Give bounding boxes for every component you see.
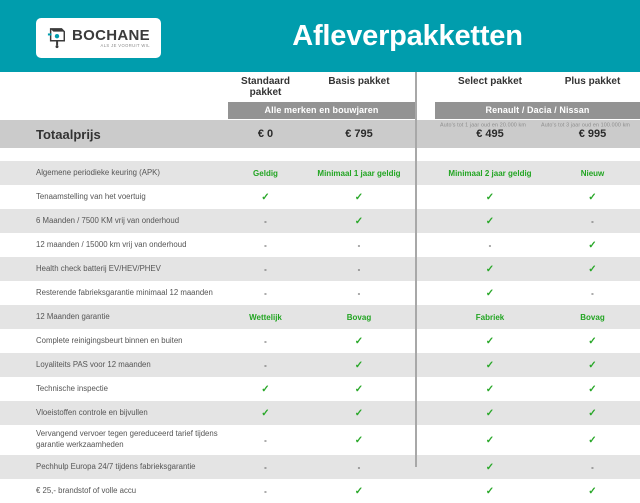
brand-bar-renault-dacia-nissan: Renault / Dacia / Nissan: [435, 102, 640, 119]
logo-wordmark: BOCHANE: [72, 28, 150, 43]
package-name-basis: Basis pakket: [303, 76, 415, 87]
cell-select-check-icon: ✓: [435, 360, 545, 371]
package-name-row: Standaard pakket Basis pakket Select pak…: [0, 72, 640, 98]
package-name-plus: Plus pakket: [545, 76, 640, 87]
cell-plus-check-icon: ✓: [545, 435, 640, 446]
group-divider: [415, 72, 417, 467]
cell-basis-value: Bovag: [303, 313, 415, 322]
total-price-basis: € 795: [303, 128, 415, 140]
feature-label: Vervangend vervoer tegen gereduceerd tar…: [0, 429, 228, 450]
cell-basis-check-icon: ✓: [303, 435, 415, 446]
bochane-mark-icon: [47, 27, 67, 49]
cell-basis-check-icon: ✓: [303, 384, 415, 395]
table-row: Vloeistoffen controle en bijvullen✓✓✓✓: [0, 401, 640, 425]
feature-label: Health check batterij EV/HEV/PHEV: [0, 264, 228, 275]
table-row: Pechhulp Europa 24/7 tijdens fabrieksgar…: [0, 455, 640, 479]
page-header: BOCHANE ALS JE VOORUIT WIL Afleverpakket…: [0, 0, 640, 72]
table-row: Technische inspectie✓✓✓✓: [0, 377, 640, 401]
feature-label: Vloeistoffen controle en bijvullen: [0, 408, 228, 419]
cell-plus-check-icon: ✓: [545, 336, 640, 347]
table-row: Resterende fabrieksgarantie minimaal 12 …: [0, 281, 640, 305]
cell-standaard-value: Wettelijk: [228, 313, 303, 322]
cell-basis-check-icon: ✓: [303, 360, 415, 371]
cell-select-value: Fabriek: [435, 313, 545, 322]
cell-plus-check-icon: ✓: [545, 192, 640, 203]
cell-standaard-check-icon: ✓: [228, 408, 303, 419]
package-name-standaard: Standaard pakket: [228, 76, 303, 98]
cell-standaard-check-icon: ✓: [228, 192, 303, 203]
cell-select-check-icon: ✓: [435, 408, 545, 419]
cell-select-value: Minimaal 2 jaar geldig: [435, 169, 545, 178]
cell-basis-check-icon: ✓: [303, 216, 415, 227]
cell-select-check-icon: ✓: [435, 486, 545, 497]
cell-select-check-icon: ✓: [435, 384, 545, 395]
table-row: Loyaliteits PAS voor 12 maanden-✓✓✓: [0, 353, 640, 377]
cell-select-check-icon: ✓: [435, 216, 545, 227]
cell-basis-dash: -: [303, 241, 415, 250]
table-row: 12 maanden / 15000 km vrij van onderhoud…: [0, 233, 640, 257]
cell-basis-value: Minimaal 1 jaar geldig: [303, 169, 415, 178]
cell-plus-dash: -: [545, 217, 640, 226]
cell-basis-check-icon: ✓: [303, 192, 415, 203]
cell-plus-check-icon: ✓: [545, 486, 640, 497]
cell-select-check-icon: ✓: [435, 288, 545, 299]
package-comparison-table: Standaard pakket Basis pakket Select pak…: [0, 72, 640, 480]
feature-label: 12 maanden / 15000 km vrij van onderhoud: [0, 240, 228, 251]
cell-basis-dash: -: [303, 265, 415, 274]
cell-standaard-dash: -: [228, 241, 303, 250]
cell-standaard-dash: -: [228, 289, 303, 298]
table-row: 6 Maanden / 7500 KM vrij van onderhoud-✓…: [0, 209, 640, 233]
cell-plus-check-icon: ✓: [545, 384, 640, 395]
cell-select-check-icon: ✓: [435, 462, 545, 473]
package-header-block: Standaard pakket Basis pakket Select pak…: [0, 72, 640, 120]
cell-standaard-dash: -: [228, 361, 303, 370]
feature-label: Tenaamstelling van het voertuig: [0, 192, 228, 203]
cell-standaard-dash: -: [228, 436, 303, 445]
feature-label: € 25,- brandstof of volle accu: [0, 486, 228, 497]
cell-basis-dash: -: [303, 289, 415, 298]
feature-label: Loyaliteits PAS voor 12 maanden: [0, 360, 228, 371]
cell-select-dash: -: [435, 241, 545, 250]
cell-plus-value: Nieuw: [545, 169, 640, 178]
cell-standaard-dash: -: [228, 217, 303, 226]
cell-standaard-dash: -: [228, 487, 303, 496]
table-row: € 25,- brandstof of volle accu-✓✓✓: [0, 479, 640, 503]
cell-select-check-icon: ✓: [435, 264, 545, 275]
table-row: Algemene periodieke keuring (APK)GeldigM…: [0, 161, 640, 185]
total-price-select: € 495: [435, 128, 545, 140]
cell-plus-check-icon: ✓: [545, 264, 640, 275]
cell-plus-check-icon: ✓: [545, 240, 640, 251]
total-price-standaard: € 0: [228, 128, 303, 140]
table-row: Complete reinigingsbeurt binnen en buite…: [0, 329, 640, 353]
feature-label: Technische inspectie: [0, 384, 228, 395]
logo-tagline: ALS JE VOORUIT WIL: [101, 44, 150, 48]
feature-label: 6 Maanden / 7500 KM vrij van onderhoud: [0, 216, 228, 227]
package-note-row: Auto's tot 1 jaar oud en 20.000 km Auto'…: [0, 122, 640, 127]
feature-label: Algemene periodieke keuring (APK): [0, 168, 228, 179]
feature-label: Pechhulp Europa 24/7 tijdens fabrieksgar…: [0, 462, 228, 473]
cell-select-check-icon: ✓: [435, 192, 545, 203]
table-row: Health check batterij EV/HEV/PHEV--✓✓: [0, 257, 640, 281]
cell-basis-check-icon: ✓: [303, 486, 415, 497]
cell-plus-dash: -: [545, 289, 640, 298]
cell-standaard-value: Geldig: [228, 169, 303, 178]
feature-label: Resterende fabrieksgarantie minimaal 12 …: [0, 288, 228, 299]
package-name-select: Select pakket: [435, 76, 545, 87]
band-spacer: [0, 148, 640, 161]
table-row: Vervangend vervoer tegen gereduceerd tar…: [0, 425, 640, 455]
table-row: Tenaamstelling van het voertuig✓✓✓✓: [0, 185, 640, 209]
page-title: Afleverpakketten: [175, 20, 640, 53]
cell-select-check-icon: ✓: [435, 435, 545, 446]
cell-basis-check-icon: ✓: [303, 336, 415, 347]
cell-standaard-dash: -: [228, 265, 303, 274]
cell-standaard-dash: -: [228, 337, 303, 346]
cell-plus-dash: -: [545, 463, 640, 472]
feature-label: 12 Maanden garantie: [0, 312, 228, 323]
total-price-label: Totaalprijs: [0, 127, 228, 142]
cell-basis-check-icon: ✓: [303, 408, 415, 419]
package-note-plus: Auto's tot 3 jaar oud en 100.000 km: [526, 121, 640, 127]
cell-standaard-dash: -: [228, 463, 303, 472]
brand-bar-row: Alle merken en bouwjaren Renault / Dacia…: [0, 102, 640, 119]
cell-standaard-check-icon: ✓: [228, 384, 303, 395]
cell-select-check-icon: ✓: [435, 336, 545, 347]
cell-basis-dash: -: [303, 463, 415, 472]
cell-plus-check-icon: ✓: [545, 360, 640, 371]
logo-text: BOCHANE ALS JE VOORUIT WIL: [72, 28, 150, 49]
brand-logo[interactable]: BOCHANE ALS JE VOORUIT WIL: [36, 18, 161, 58]
feature-label: Complete reinigingsbeurt binnen en buite…: [0, 336, 228, 347]
brand-bar-all-makes: Alle merken en bouwjaren: [228, 102, 415, 119]
total-price-plus: € 995: [545, 128, 640, 140]
cell-plus-value: Bovag: [545, 313, 640, 322]
table-row: 12 Maanden garantieWettelijkBovagFabriek…: [0, 305, 640, 329]
cell-plus-check-icon: ✓: [545, 408, 640, 419]
feature-row-list: Algemene periodieke keuring (APK)GeldigM…: [0, 161, 640, 503]
